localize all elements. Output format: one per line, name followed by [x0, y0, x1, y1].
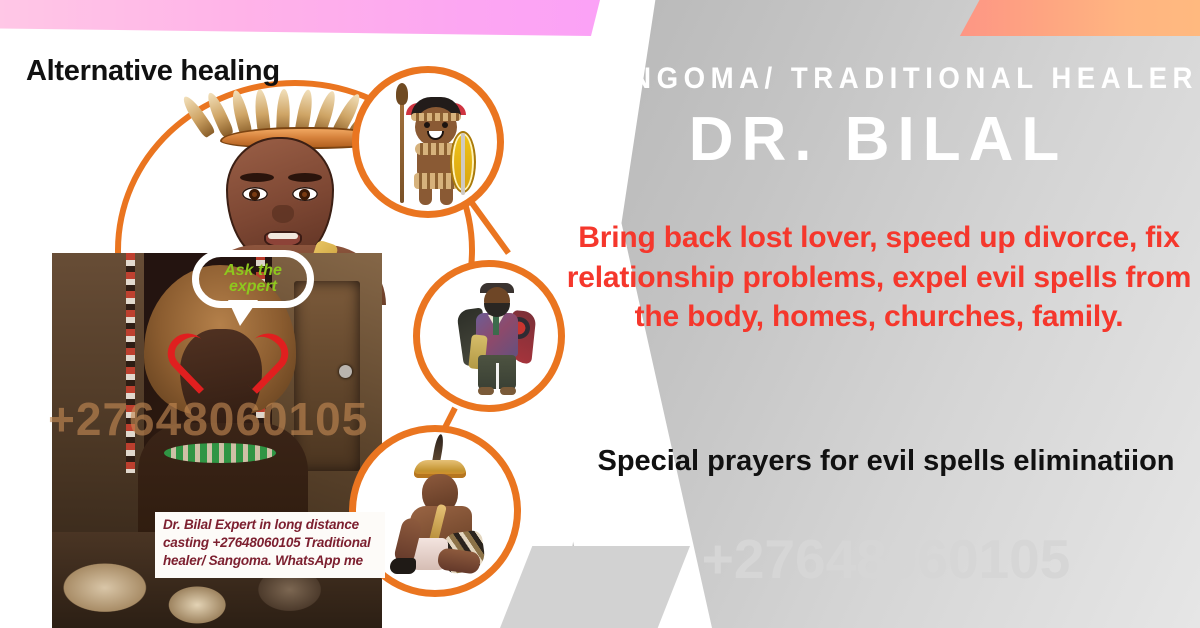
phone-number-watermark: +27648060105	[586, 527, 1186, 591]
zulu-warrior-illustration	[397, 89, 473, 207]
speech-bubble-tail	[228, 300, 258, 326]
sangoma-man-illustration	[460, 285, 532, 401]
special-prayers-text: Special prayers for evil spells eliminat…	[586, 443, 1186, 481]
circle-image-zulu-warrior	[352, 66, 504, 218]
poster-canvas: Alternative healing	[0, 0, 1200, 628]
kneeling-warrior-illustration	[390, 446, 486, 576]
tagline-alternative-healing: Alternative healing	[26, 55, 280, 88]
circle-image-sangoma-man	[413, 260, 565, 412]
speech-bubble-text: Ask the expert	[210, 263, 296, 295]
photo-caption: Dr. Bilal Expert in long distance castin…	[155, 512, 385, 578]
circle-connector-top	[470, 201, 511, 255]
kicker-subtitle: SANGOMA/ TRADITIONAL HEALER	[582, 62, 1174, 96]
left-artwork-area: Alternative healing	[0, 0, 600, 628]
photo-phone-watermark: +27648060105	[48, 392, 368, 446]
services-description: Bring back lost lover, speed up divorce,…	[564, 218, 1194, 337]
healer-name-title: DR. BILAL	[556, 104, 1200, 175]
right-text-column: SANGOMA/ TRADITIONAL HEALER DR. BILAL Br…	[556, 0, 1200, 628]
heart-icon	[196, 334, 260, 392]
